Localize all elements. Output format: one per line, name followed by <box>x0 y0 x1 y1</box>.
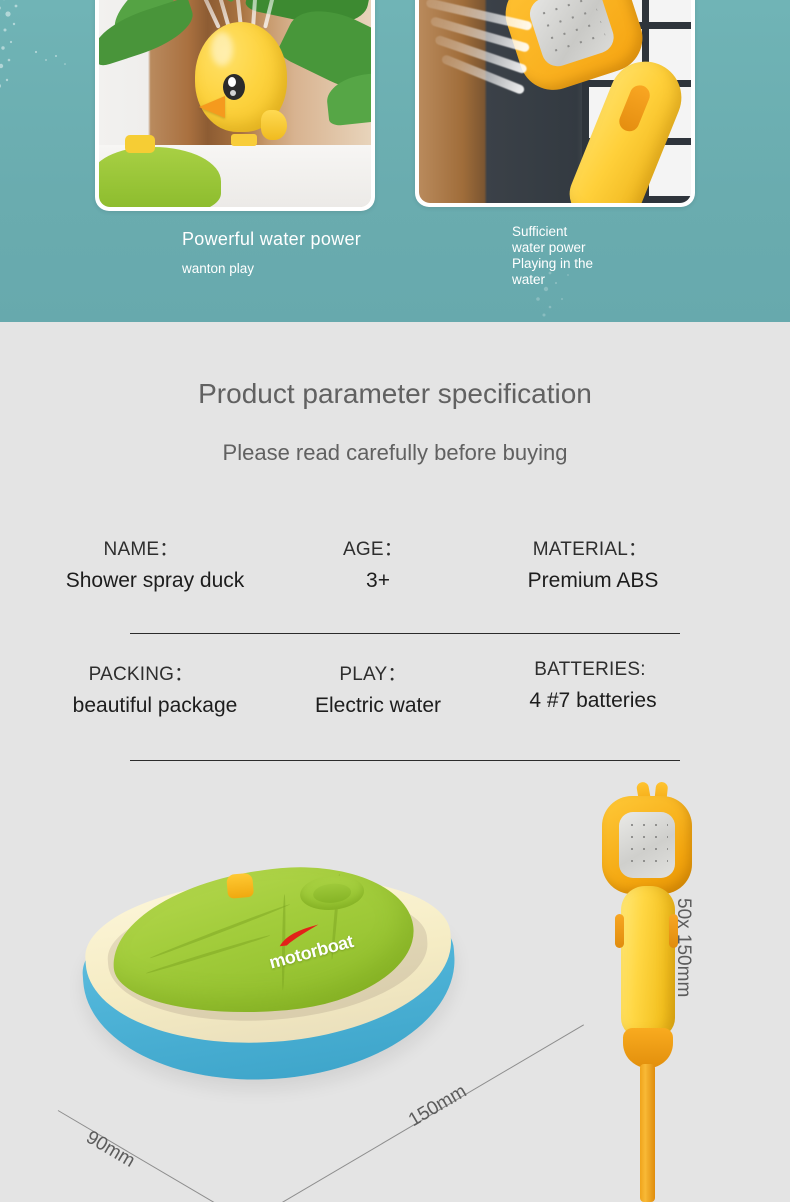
spec-value: Electric water <box>288 694 468 718</box>
duck-eye <box>223 74 245 100</box>
dimension-label-shower: 50x 150mm <box>672 898 694 997</box>
shower-handle <box>621 886 675 1038</box>
deck-groove <box>145 934 270 975</box>
duck-foot <box>231 134 257 146</box>
caption-right-line-2: water power <box>512 240 593 256</box>
duck-fountain-photo <box>99 0 371 207</box>
spec-divider <box>130 760 680 761</box>
spec-cell-material: MATERIAL： Premium ABS <box>448 534 738 593</box>
caption-left-sub: wanton play <box>182 261 254 276</box>
spec-label: BATTERIES: <box>448 659 738 681</box>
shower-base-tip <box>623 1028 673 1068</box>
spec-value: 4 #7 batteries <box>448 689 738 713</box>
caption-right-line-1: Sufficient <box>512 224 593 240</box>
duck-highlight <box>211 32 233 66</box>
spec-divider <box>130 633 680 634</box>
product-detail-page: Powerful water power wanton play Suffici… <box>0 0 790 1202</box>
water-splash-decoration <box>0 0 80 120</box>
spec-cell-age: AGE： 3+ <box>288 534 468 593</box>
spec-label: NAME： <box>0 534 310 561</box>
spec-subtitle: Please read carefully before buying <box>0 440 790 466</box>
spec-cell-batteries: BATTERIES: 4 #7 batteries <box>448 659 738 713</box>
motorboat-toy-render: motorboat <box>70 858 470 1098</box>
spec-value: Premium ABS <box>448 569 738 593</box>
feature-banner: Powerful water power wanton play Suffici… <box>0 0 790 322</box>
spec-title: Product parameter specification <box>0 378 790 410</box>
shower-button <box>616 82 653 134</box>
shower-frame <box>602 796 692 894</box>
feature-photo-card-left[interactable] <box>95 0 375 211</box>
caption-right-block: Sufficient water power Playing in the wa… <box>512 224 593 288</box>
spec-label: AGE： <box>288 534 468 561</box>
duck-toy <box>195 22 287 132</box>
caption-left-main: Powerful water power <box>182 229 361 250</box>
spec-cell-name: NAME： Shower spray duck <box>0 534 310 593</box>
spec-cell-play: PLAY： Electric water <box>288 659 468 718</box>
shower-mesh <box>526 0 618 70</box>
shower-head-spray-photo <box>419 0 691 203</box>
caption-right-line-3: Playing in the <box>512 256 593 272</box>
spec-value: Shower spray duck <box>0 569 310 593</box>
duck-wing <box>261 110 287 140</box>
spec-value: 3+ <box>288 569 468 593</box>
caption-right-line-4: water <box>512 272 593 288</box>
spec-label: MATERIAL： <box>448 534 738 561</box>
spec-label: PACKING： <box>0 659 310 686</box>
spec-value: beautiful package <box>0 694 310 718</box>
shower-hose <box>640 1064 655 1202</box>
shower-grip <box>615 914 624 948</box>
spec-label: PLAY： <box>288 659 468 686</box>
boat-filler-cap <box>299 873 366 912</box>
duck-beak <box>199 96 225 118</box>
boat-switch-knob <box>226 873 254 899</box>
spec-cell-packing: PACKING： beautiful package <box>0 659 310 718</box>
feature-photo-card-right[interactable] <box>415 0 695 207</box>
shower-mesh <box>619 812 675 878</box>
